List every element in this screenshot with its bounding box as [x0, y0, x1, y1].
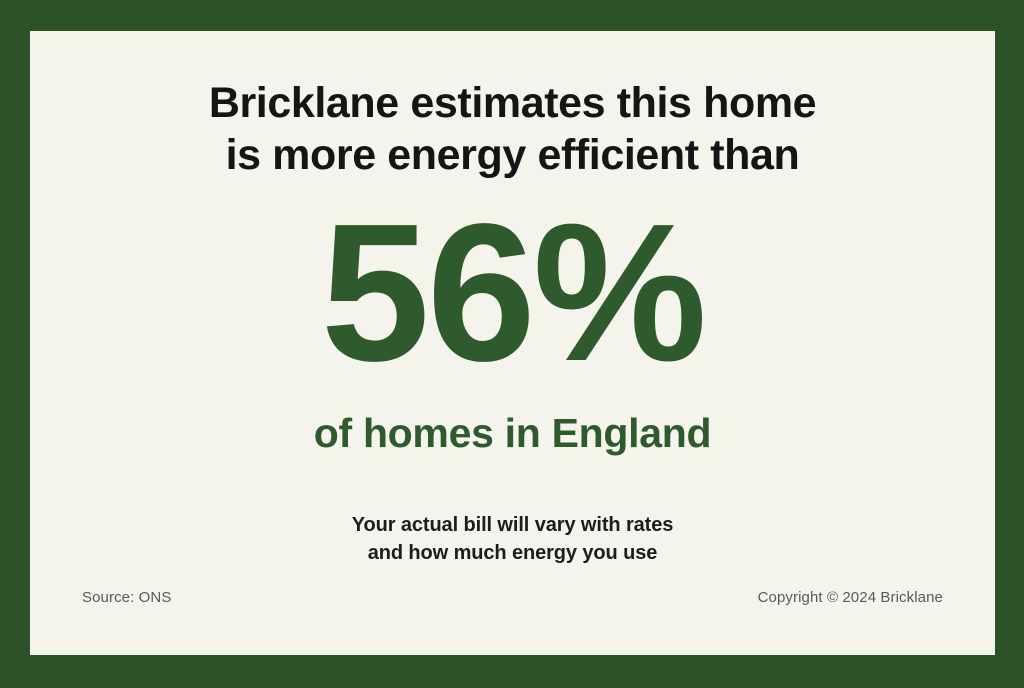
statistic-card: Bricklane estimates this home is more en…	[30, 31, 995, 655]
source-label: Source: ONS	[82, 589, 171, 606]
stat-value: 56%	[321, 181, 704, 391]
headline-line-2: is more energy efficient than	[209, 130, 816, 182]
card-footer: Source: ONS Copyright © 2024 Bricklane	[30, 589, 995, 606]
disclaimer-line-1: Your actual bill will vary with rates	[352, 512, 674, 540]
headline: Bricklane estimates this home is more en…	[209, 31, 816, 181]
copyright-label: Copyright © 2024 Bricklane	[758, 589, 943, 606]
headline-line-1: Bricklane estimates this home	[209, 78, 816, 130]
disclaimer-line-2: and how much energy you use	[352, 540, 674, 568]
disclaimer: Your actual bill will vary with rates an…	[352, 456, 674, 567]
card-frame: Bricklane estimates this home is more en…	[0, 0, 1024, 688]
stat-subtitle: of homes in England	[314, 391, 711, 456]
